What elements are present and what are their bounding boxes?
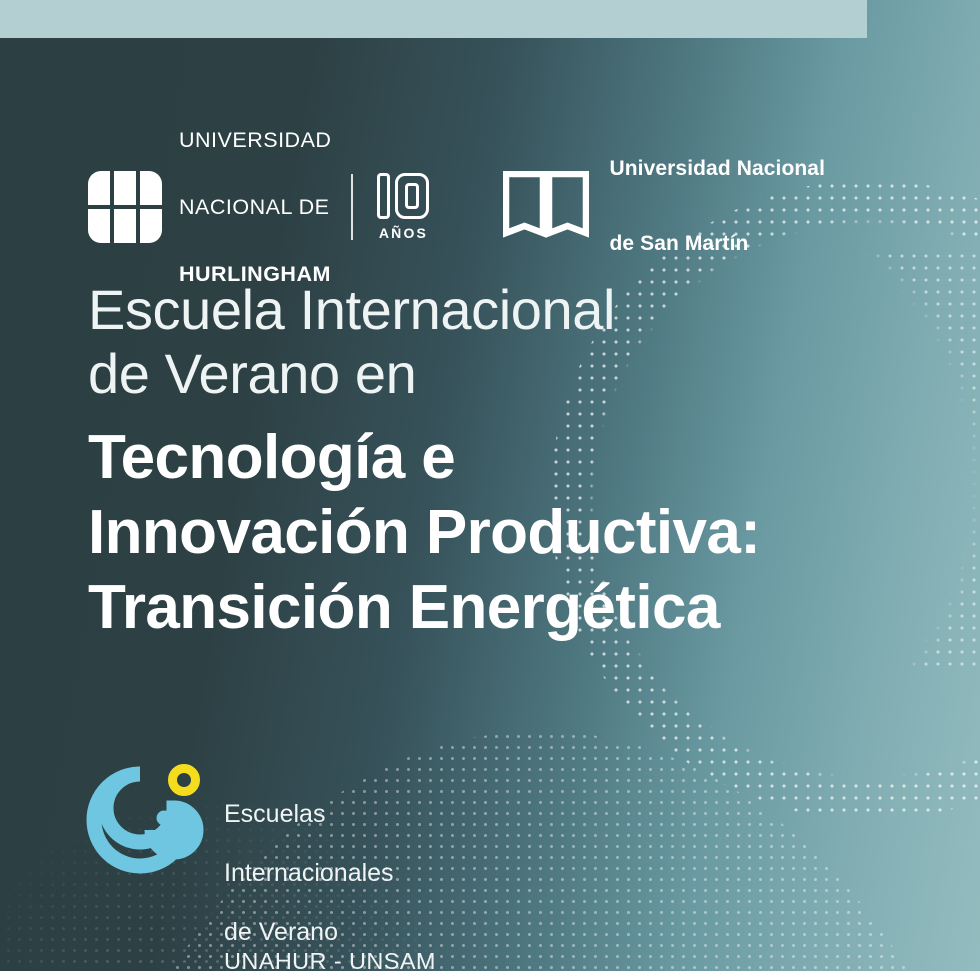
unahur-line-1: UNIVERSIDAD: [179, 129, 331, 151]
summer-schools-wordmark: Escuelas Internacionales de Verano UNAHU…: [224, 770, 436, 971]
eiv-line-3: de Verano: [224, 918, 338, 946]
spiral-icon: [78, 758, 206, 886]
unsam-line-1: Universidad Nacional: [609, 157, 825, 182]
unahur-line-2: NACIONAL DE: [179, 196, 331, 218]
unahur-grid-mark-icon: [88, 171, 162, 243]
eiv-line-2: Internacionales: [224, 859, 394, 887]
top-accent-bar: [0, 0, 867, 38]
anniversary-badge: AÑOS: [377, 173, 429, 241]
eiv-line-1: Escuelas: [224, 800, 325, 828]
anniversary-label: AÑOS: [377, 225, 429, 241]
headline-bold-lines: Tecnología e Innovación Productiva: Tran…: [88, 420, 760, 645]
unsam-logo-lockup: Universidad Nacional de San Martín: [503, 108, 825, 306]
unsam-wordmark: Universidad Nacional de San Martín: [609, 108, 825, 306]
unsam-line-2: de San Martín: [609, 232, 825, 257]
logo-divider: [351, 174, 353, 240]
headline-light-lines: Escuela Internacional de Verano en: [88, 278, 760, 406]
summer-schools-lockup: Escuelas Internacionales de Verano UNAHU…: [78, 758, 436, 971]
eiv-line-4: UNAHUR - UNSAM: [224, 948, 436, 971]
anniversary-number-icon: [377, 173, 429, 219]
poster-canvas: UNIVERSIDAD NACIONAL DE HURLINGHAM AÑOS …: [0, 0, 980, 971]
poster-headline: Escuela Internacional de Verano en Tecno…: [88, 278, 760, 645]
open-book-icon: [503, 171, 589, 243]
